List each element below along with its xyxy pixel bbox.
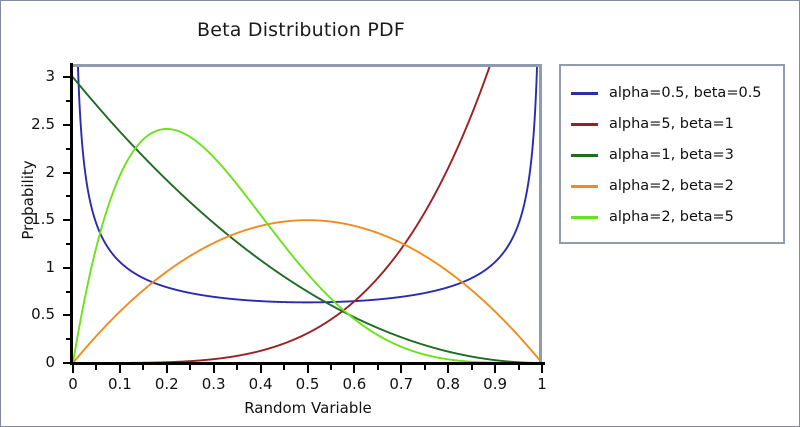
legend-label: alpha=2, beta=2	[609, 178, 734, 194]
legend-label: alpha=2, beta=5	[609, 209, 734, 225]
y-tick-minor	[66, 338, 71, 340]
x-tick-label: 0.2	[142, 375, 192, 393]
y-tick-label: 0.5	[15, 305, 55, 323]
legend-color-swatch	[571, 92, 598, 95]
series-line	[73, 64, 542, 363]
legend-item[interactable]: alpha=5, beta=1	[571, 113, 734, 135]
x-tick-minor	[236, 365, 238, 370]
x-tick-mark	[72, 365, 74, 373]
x-tick-mark	[447, 365, 449, 373]
x-tick-minor	[283, 365, 285, 370]
x-tick-minor	[377, 365, 379, 370]
x-tick-mark	[166, 365, 168, 373]
curve-layer	[73, 64, 542, 363]
x-tick-mark	[353, 365, 355, 373]
y-tick-label: 0	[15, 353, 55, 371]
x-tick-mark	[213, 365, 215, 373]
legend-color-swatch	[571, 216, 598, 219]
y-tick-minor	[66, 291, 71, 293]
x-tick-label: 0.3	[189, 375, 239, 393]
x-tick-label: 0	[48, 375, 98, 393]
y-tick-minor	[66, 243, 71, 245]
x-tick-minor	[95, 365, 97, 370]
x-tick-minor	[330, 365, 332, 370]
legend-color-swatch	[571, 154, 598, 157]
x-tick-mark	[119, 365, 121, 373]
x-tick-minor	[424, 365, 426, 370]
x-tick-minor	[189, 365, 191, 370]
x-tick-label: 0.9	[470, 375, 520, 393]
chart-page: Beta Distribution PDF 00.511.522.53 00.1…	[0, 0, 800, 427]
y-tick-mark	[63, 267, 71, 269]
x-tick-label: 0.6	[329, 375, 379, 393]
legend-item[interactable]: alpha=2, beta=5	[571, 206, 734, 228]
legend-item[interactable]: alpha=1, beta=3	[571, 144, 734, 166]
x-tick-label: 1	[517, 375, 567, 393]
y-axis-label: Probability	[19, 110, 37, 290]
y-tick-mark	[63, 219, 71, 221]
legend-label: alpha=5, beta=1	[609, 116, 734, 132]
legend-label: alpha=1, beta=3	[609, 147, 734, 163]
x-tick-mark	[494, 365, 496, 373]
y-tick-minor	[66, 148, 71, 150]
y-tick-mark	[63, 76, 71, 78]
x-tick-minor	[142, 365, 144, 370]
x-tick-mark	[541, 365, 543, 373]
x-tick-mark	[307, 365, 309, 373]
y-tick-mark	[63, 362, 71, 364]
x-tick-label: 0.5	[283, 375, 333, 393]
x-tick-label: 0.4	[236, 375, 286, 393]
y-tick-minor	[66, 100, 71, 102]
chart-title: Beta Distribution PDF	[1, 19, 601, 41]
legend-label: alpha=0.5, beta=0.5	[609, 85, 762, 101]
legend-color-swatch	[571, 185, 598, 188]
series-line	[74, 64, 541, 302]
x-tick-minor	[518, 365, 520, 370]
x-tick-label: 0.7	[376, 375, 426, 393]
y-tick-mark	[63, 172, 71, 174]
x-tick-label: 0.1	[95, 375, 145, 393]
y-tick-minor	[66, 195, 71, 197]
plot-area	[73, 64, 542, 363]
y-tick-mark	[63, 314, 71, 316]
legend-item[interactable]: alpha=2, beta=2	[571, 175, 734, 197]
x-tick-label: 0.8	[423, 375, 473, 393]
legend-box: alpha=0.5, beta=0.5alpha=5, beta=1alpha=…	[559, 64, 785, 244]
x-tick-minor	[471, 365, 473, 370]
series-line	[73, 129, 542, 363]
y-tick-mark	[63, 124, 71, 126]
y-axis-line	[70, 63, 73, 365]
legend-item[interactable]: alpha=0.5, beta=0.5	[571, 82, 762, 104]
legend-color-swatch	[571, 123, 598, 126]
x-axis-label: Random Variable	[73, 399, 543, 417]
y-tick-label: 3	[15, 67, 55, 85]
x-tick-mark	[400, 365, 402, 373]
x-tick-mark	[260, 365, 262, 373]
